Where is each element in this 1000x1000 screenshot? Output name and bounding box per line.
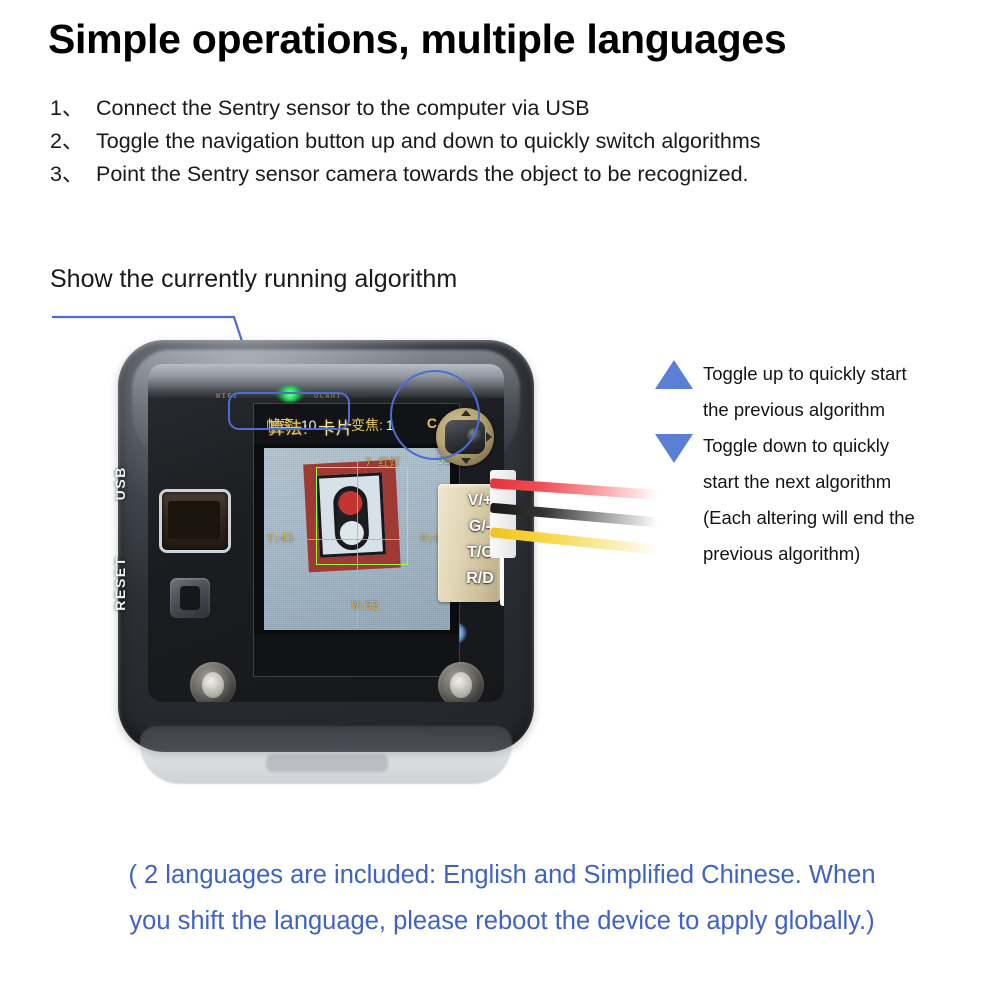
step-number: 3、 [50, 158, 96, 191]
connector-cable [490, 448, 680, 580]
footer-line-1: ( 2 languages are included: English and … [52, 852, 952, 898]
usb-port[interactable] [162, 492, 228, 550]
list-item: 2、 Toggle the navigation button up and d… [50, 125, 950, 158]
step-text: Connect the Sentry sensor to the compute… [96, 92, 590, 125]
annotation-text: the previous algorithm [703, 392, 907, 428]
lcd-algorithm-value: 卡片 [318, 419, 353, 438]
device-photo: WIFI UCART 算法:卡片 [118, 340, 658, 790]
callout-label: Show the currently running algorithm [50, 265, 457, 294]
page-title: Simple operations, multiple languages [48, 16, 786, 63]
power-led-indicator [276, 386, 304, 402]
triangle-up-icon [655, 360, 693, 389]
silkscreen-wifi-label: WIFI [216, 392, 238, 400]
footer-line-2: you shift the language, please reboot th… [52, 898, 952, 944]
step-text: Point the Sentry sensor camera towards t… [96, 158, 749, 191]
mounting-screw-right [438, 662, 484, 702]
step-number: 2、 [50, 125, 96, 158]
silkscreen-uart-label: UCART [314, 392, 342, 400]
steps-list: 1、 Connect the Sentry sensor to the comp… [50, 92, 950, 191]
annotation-text: (Each altering will end the [703, 500, 915, 536]
detection-bounding-box: 7 红灯 55 [316, 467, 408, 565]
annotation-text: Toggle down to quickly [703, 428, 891, 464]
list-item: 3、 Point the Sentry sensor camera toward… [50, 158, 950, 191]
lcd-fps-readout: 帧率:10 [266, 415, 316, 435]
step-text: Toggle the navigation button up and down… [96, 125, 761, 158]
zoom-label: 变焦: [351, 417, 383, 433]
fps-label: 帧率: [266, 417, 298, 433]
lcd-camera-view: 7 红灯 55 Y:43 H:67 W:52 [264, 448, 450, 630]
detection-y-value: Y:43 [267, 532, 294, 545]
annotation-text: start the next algorithm [703, 464, 891, 500]
joystick-down-arrow-icon [461, 458, 471, 464]
annotation-toggle-down: Toggle down to quickly start the next al… [655, 428, 975, 500]
lcd-zoom-readout: 变焦:1 [351, 415, 394, 435]
joystick-right-arrow-icon [486, 432, 492, 442]
footer-language-note: ( 2 languages are included: English and … [52, 852, 952, 944]
annotations-panel: Toggle up to quickly start the previous … [655, 356, 975, 572]
usb-port-label: USB [112, 466, 128, 500]
shell-bottom-notch [266, 754, 388, 772]
list-item: 1、 Connect the Sentry sensor to the comp… [50, 92, 950, 125]
detection-w-value: W:52 [352, 599, 379, 612]
reset-button[interactable] [170, 578, 210, 618]
joystick-highlight-ring [390, 370, 480, 460]
reset-button-label: RESET [112, 556, 128, 611]
annotation-text: previous algorithm) [703, 536, 915, 572]
annotation-text: Toggle up to quickly start [703, 356, 907, 392]
annotation-note: (Each altering will end the previous alg… [655, 500, 975, 572]
triangle-down-icon [655, 434, 693, 463]
mounting-screw-left [190, 662, 236, 702]
annotation-toggle-up: Toggle up to quickly start the previous … [655, 356, 975, 428]
step-number: 1、 [50, 92, 96, 125]
detection-class-label: 7 红灯 [365, 454, 400, 470]
fps-value: 10 [301, 417, 317, 433]
lcd-footer-bar [254, 634, 459, 676]
